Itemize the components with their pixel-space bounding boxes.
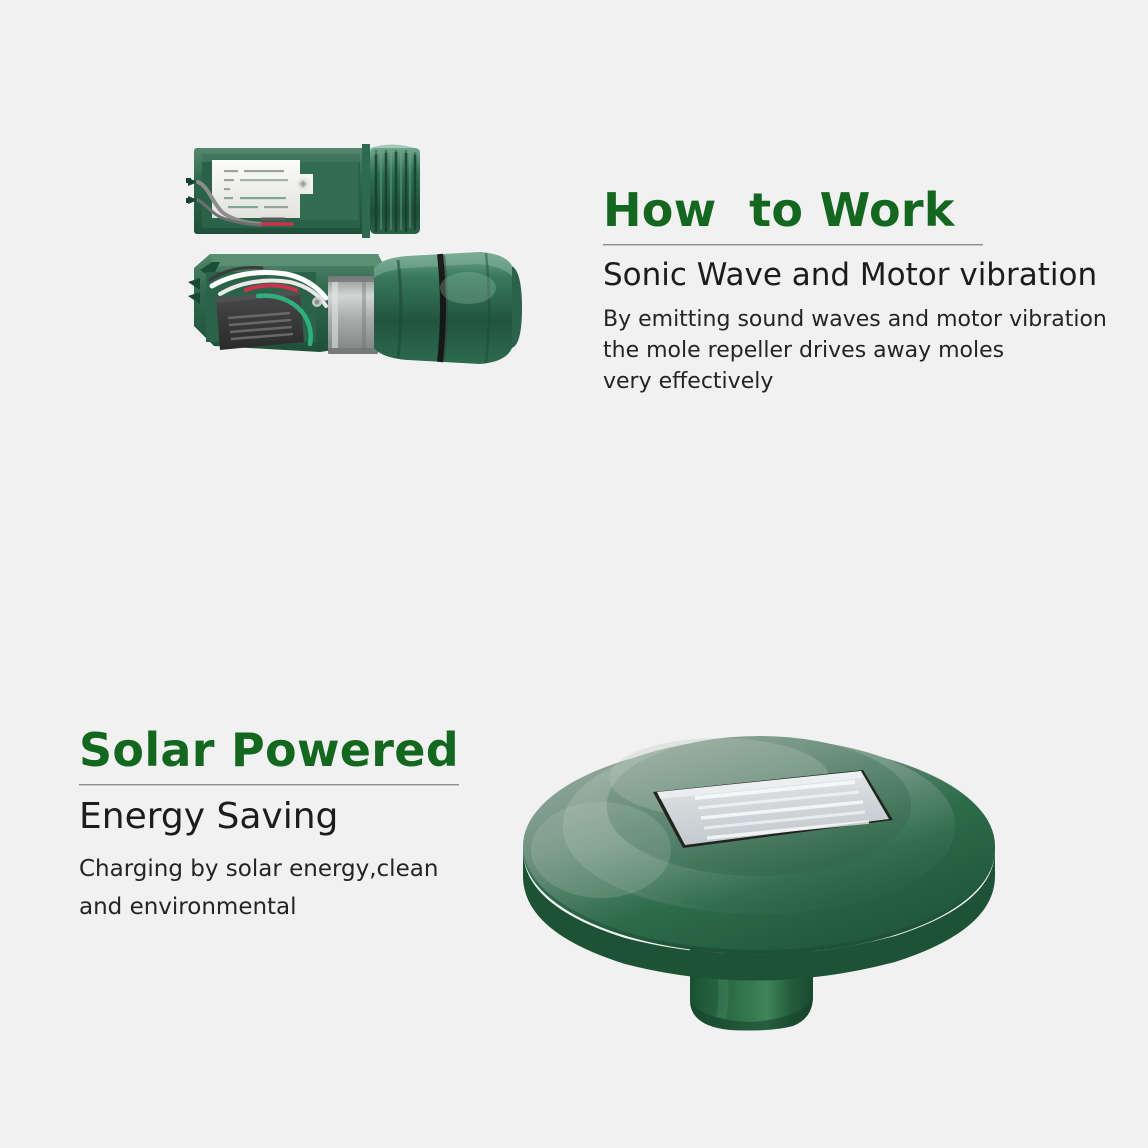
- how-to-work-heading: How to Work: [603, 186, 1103, 234]
- solar-powered-subheading: Energy Saving: [79, 796, 519, 837]
- solar-dome-cap-photo: [505, 700, 1025, 1060]
- white-circuit-board-label: [212, 160, 313, 218]
- mole-repeller-internal-components-photo: [150, 120, 550, 410]
- how-to-work-body: By emitting sound waves and motor vibrat…: [603, 304, 1103, 397]
- solar-powered-text-block: Solar Powered Energy Saving Charging by …: [79, 726, 519, 926]
- repeller-parts-illustration: [150, 120, 550, 410]
- solar-powered-divider: [79, 784, 459, 786]
- solar-powered-heading: Solar Powered: [79, 726, 519, 774]
- solar-powered-body: Charging by solar energy,clean and envir…: [79, 850, 519, 926]
- body-line: very effectively: [603, 366, 1103, 397]
- body-line: Charging by solar energy,clean: [79, 850, 519, 888]
- silver-motor-cylinder: [328, 276, 378, 354]
- body-line: the mole repeller drives away moles: [603, 335, 1103, 366]
- body-line: By emitting sound waves and motor vibrat…: [603, 304, 1103, 335]
- body-line: and environmental: [79, 888, 519, 926]
- marketing-page: How to Work Sonic Wave and Motor vibrati…: [0, 0, 1148, 1148]
- green-barrel-with-o-ring: [374, 252, 522, 364]
- how-to-work-divider: [603, 244, 983, 246]
- threaded-green-tube: [362, 144, 420, 238]
- how-to-work-subheading: Sonic Wave and Motor vibration: [603, 258, 1103, 294]
- solar-dome-illustration: [505, 700, 1025, 1060]
- black-speaker-grille: [216, 290, 304, 350]
- how-to-work-text-block: How to Work Sonic Wave and Motor vibrati…: [603, 186, 1103, 397]
